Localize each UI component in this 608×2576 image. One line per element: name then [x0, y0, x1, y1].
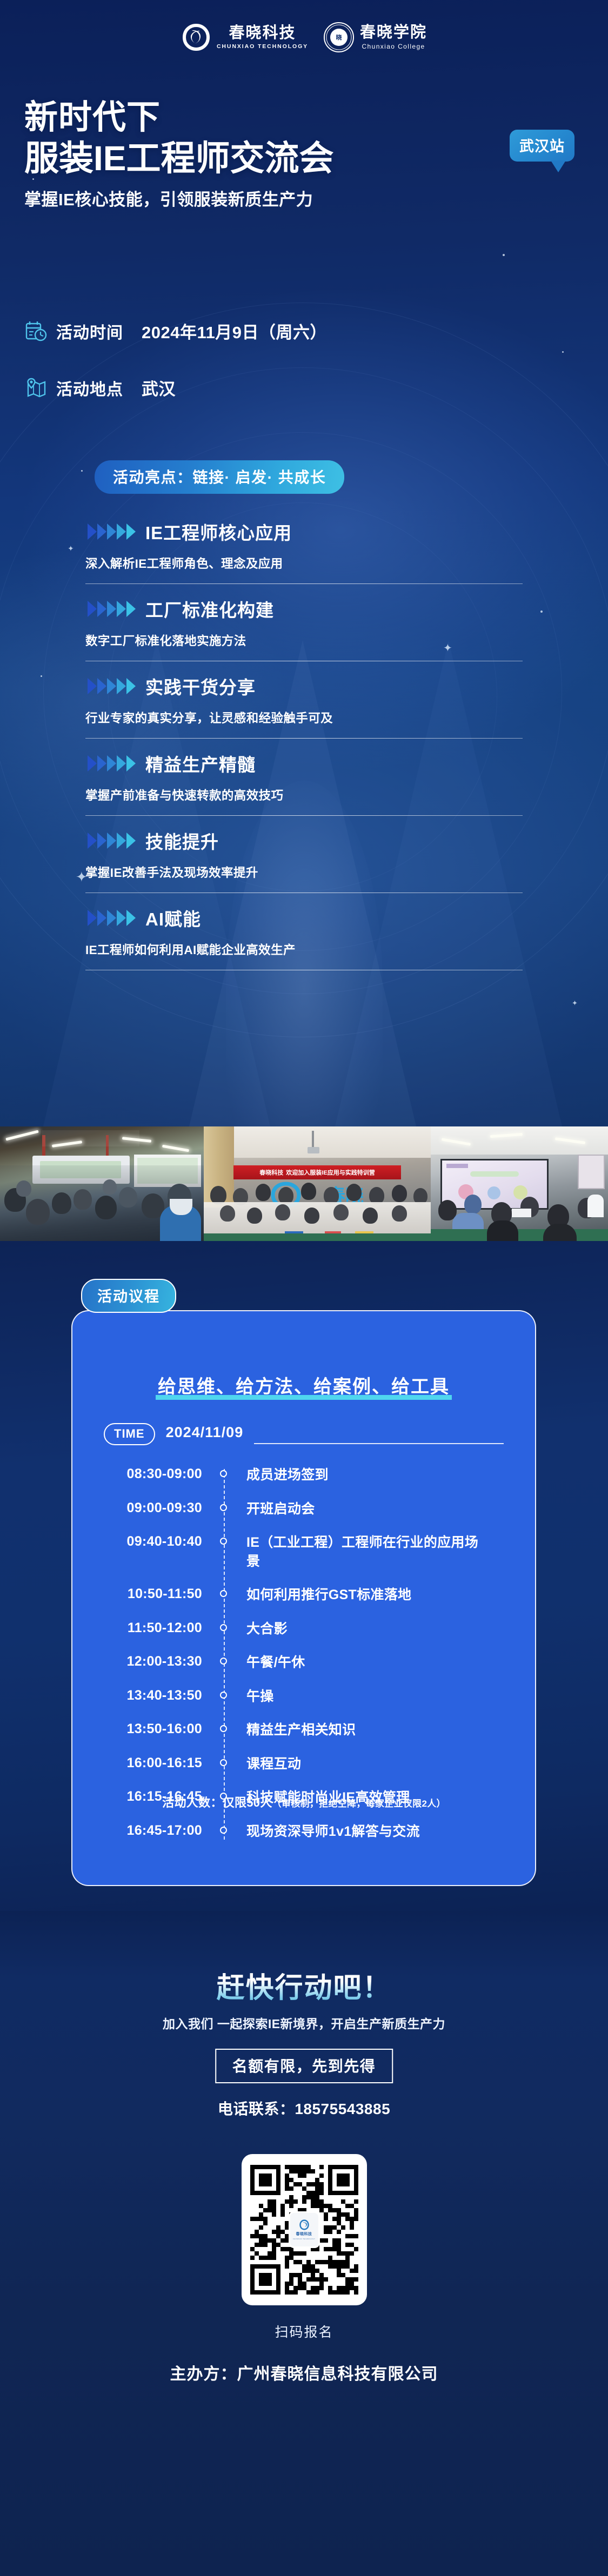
- decor-sparkle-icon: ✦: [572, 999, 578, 1007]
- schedule-row: 13:50-16:00 精益生产相关知识: [72, 1721, 535, 1740]
- highlight-title: 实践干货分享: [145, 673, 256, 699]
- agenda-headline-wrap: 给思维、给方法、给案例、给工具: [72, 1372, 535, 1398]
- chevron-right-icon: [107, 755, 116, 772]
- chunxiao-tech-mark-icon: [181, 23, 211, 51]
- highlight-separator: [85, 815, 523, 816]
- schedule-row: 16:45-17:00 现场资深导师1v1解答与交流: [72, 1822, 535, 1841]
- highlight-separator: [85, 583, 523, 584]
- attendance-limit-note: （审核制，拒绝空降，每家企业仅限2人）: [272, 1799, 446, 1809]
- highlight-head: 精益生产精髓: [43, 750, 565, 776]
- event-time-row: 活动时间 2024年11月9日（周六）: [25, 319, 327, 343]
- chevron-right-icon: [126, 833, 136, 849]
- agenda-headline: 给思维、给方法、给案例、给工具: [158, 1372, 450, 1398]
- calendar-clock-icon: [25, 320, 48, 343]
- chevron-right-icon: [117, 833, 126, 849]
- hero-title-line1: 新时代下: [24, 100, 333, 136]
- qr-logo-en: CHUNXIAO TECHNOLOGY: [293, 2238, 315, 2240]
- schedule-text: IE（工业工程）工程师在行业的应用场景: [246, 1533, 479, 1571]
- highlight-separator: [85, 738, 523, 739]
- schedule-dot-icon: [220, 1538, 227, 1545]
- highlight-desc: 掌握产前准备与快速转款的高效技巧: [85, 786, 565, 803]
- highlight-head: AI赋能: [43, 905, 565, 931]
- chevron-right-icon: [117, 601, 126, 617]
- chevron-right-icon: [107, 601, 116, 617]
- highlight-separator: [85, 970, 523, 970]
- schedule-list: 08:30-09:00 成员进场签到09:00-09:30 开班启动会09:40…: [72, 1466, 535, 1841]
- chevron-right-icon: [97, 524, 106, 540]
- highlight-desc: 掌握IE改善手法及现场效率提升: [85, 863, 565, 881]
- cta-title: 赶快行动吧！: [0, 1965, 608, 2005]
- logo-text-cn: 春晓科技: [229, 25, 296, 41]
- cta-subtitle: 加入我们 一起探索IE新境界，开启生产新质生产力: [0, 2014, 608, 2032]
- schedule-time: 13:40-13:50: [72, 1687, 202, 1703]
- schedule-dot-icon: [220, 1692, 227, 1699]
- chevron-group-icon: [88, 755, 136, 772]
- highlights-badge: 活动亮点：链接· 启发· 共成长: [95, 460, 344, 494]
- attendance-limit: 活动人数：仅限50人（审核制，拒绝空降，每家企业仅限2人）: [0, 1793, 608, 1810]
- chevron-right-icon: [97, 755, 106, 772]
- highlight-head: 工厂标准化构建: [43, 596, 565, 622]
- event-location-row: 活动地点 武汉: [25, 375, 176, 400]
- schedule-time: 13:50-16:00: [72, 1721, 202, 1737]
- brand-logos: 春晓科技 CHUNXIAO TECHNOLOGY 晓 春晓学院 Chunxiao…: [0, 22, 608, 53]
- chevron-right-icon: [117, 678, 126, 694]
- hero-section: ✦ ✦ ✦ ✦ 春晓科技 CHUNXIAO TECHNOLOGY 晓 春晓: [0, 0, 608, 1126]
- highlight-separator: [85, 661, 523, 661]
- schedule-timeline-axis: [224, 1469, 225, 1840]
- schedule-row: 11:50-12:00 大合影: [72, 1620, 535, 1639]
- chevron-right-icon: [117, 910, 126, 926]
- highlights-list: IE工程师核心应用 深入解析IE工程师角色、理念及应用 工厂标准化构建 数字工厂…: [0, 519, 608, 982]
- highlight-item: IE工程师核心应用 深入解析IE工程师角色、理念及应用: [0, 519, 608, 584]
- chevron-right-icon: [88, 524, 97, 540]
- chevron-right-icon: [88, 678, 97, 694]
- schedule-row: 10:50-11:50 如何利用推行GST标准落地: [72, 1586, 535, 1605]
- event-time-label: 活动时间: [56, 319, 123, 343]
- chevron-right-icon: [88, 833, 97, 849]
- chevron-right-icon: [107, 833, 116, 849]
- banner-brand: 春晓科技: [259, 1168, 283, 1177]
- schedule-time: 09:40-10:40: [72, 1533, 202, 1549]
- highlight-desc: IE工程师如何利用AI赋能企业高效生产: [85, 941, 565, 958]
- svg-text:晓: 晓: [336, 33, 342, 41]
- agenda-tab-badge: 活动议程: [81, 1279, 176, 1313]
- highlight-title: 工厂标准化构建: [145, 596, 274, 622]
- logo-text-en: Chunxiao College: [362, 43, 425, 50]
- banner-text: 欢迎加入服装IE应用与实践特训营: [286, 1168, 375, 1177]
- map-pin-icon: [25, 377, 48, 399]
- chevron-right-icon: [88, 910, 97, 926]
- schedule-text: 精益生产相关知识: [246, 1721, 356, 1740]
- chevron-right-icon: [117, 524, 126, 540]
- hero-subtitle: 掌握IE核心技能，引领服装新质生产力: [24, 186, 333, 210]
- agenda-date-rule: [254, 1443, 504, 1444]
- schedule-text: 开班启动会: [246, 1500, 315, 1519]
- decor-spark: [81, 470, 83, 472]
- logo-text-en: CHUNXIAO TECHNOLOGY: [217, 44, 308, 50]
- chevron-right-icon: [126, 524, 136, 540]
- chevron-right-icon: [88, 601, 97, 617]
- highlight-desc: 数字工厂标准化落地实施方法: [85, 632, 565, 649]
- chevron-group-icon: [88, 910, 136, 926]
- agenda-section: 给思维、给方法、给案例、给工具 TIME 2024/11/09 08:30-09…: [0, 1241, 608, 1911]
- schedule-row: 09:40-10:40 IE（工业工程）工程师在行业的应用场景: [72, 1533, 535, 1571]
- chevron-right-icon: [117, 755, 126, 772]
- schedule-dot-icon: [220, 1725, 227, 1732]
- chevron-right-icon: [88, 755, 97, 772]
- photo-group-photo: 春晓科技 欢迎加入服装IE应用与实践特训营 春晓: [204, 1126, 431, 1241]
- agenda-date-value: 2024/11/09: [166, 1424, 244, 1445]
- agenda-headline-text: 给思维、给方法、给案例、给工具: [158, 1377, 450, 1397]
- decor-spark: [562, 351, 564, 353]
- chevron-right-icon: [126, 755, 136, 772]
- chevron-right-icon: [126, 910, 136, 926]
- qr-logo-cn: 春晓科技: [296, 2231, 312, 2237]
- schedule-text: 午餐/午休: [246, 1653, 305, 1672]
- chevron-right-icon: [126, 601, 136, 617]
- cta-section: 赶快行动吧！ 加入我们 一起探索IE新境界，开启生产新质生产力 名额有限，先到先…: [0, 1911, 608, 2576]
- photo-workshop: [431, 1126, 608, 1241]
- scan-label: 扫码报名: [0, 2322, 608, 2341]
- logo-chunxiao-technology: 春晓科技 CHUNXIAO TECHNOLOGY: [181, 23, 308, 51]
- schedule-time: 12:00-13:30: [72, 1653, 202, 1669]
- highlight-item: 实践干货分享 行业专家的真实分享，让灵感和经验触手可及: [0, 673, 608, 739]
- schedule-time: 09:00-09:30: [72, 1500, 202, 1516]
- highlight-item: 精益生产精髓 掌握产前准备与快速转款的高效技巧: [0, 750, 608, 816]
- event-time-value: 2024年11月9日（周六）: [142, 319, 327, 343]
- chevron-right-icon: [107, 524, 116, 540]
- highlight-item: 工厂标准化构建 数字工厂标准化落地实施方法: [0, 596, 608, 661]
- chevron-group-icon: [88, 524, 136, 540]
- schedule-row: 13:40-13:50 午操: [72, 1687, 535, 1706]
- highlight-desc: 深入解析IE工程师角色、理念及应用: [85, 554, 565, 572]
- schedule-dot-icon: [220, 1590, 227, 1597]
- schedule-dot-icon: [220, 1504, 227, 1511]
- attendance-limit-main: 活动人数：仅限50人: [162, 1796, 272, 1809]
- photo-gallery: 春晓科技 欢迎加入服装IE应用与实践特训营 春晓: [0, 1126, 608, 1241]
- chevron-right-icon: [97, 833, 106, 849]
- event-location-value: 武汉: [142, 375, 176, 400]
- schedule-text: 课程互动: [246, 1755, 301, 1774]
- schedule-time: 16:00-16:15: [72, 1755, 202, 1771]
- highlight-title: 技能提升: [145, 828, 219, 854]
- logo-text-cn: 春晓学院: [360, 25, 427, 41]
- event-location-label: 活动地点: [56, 376, 123, 400]
- schedule-text: 成员进场签到: [246, 1466, 329, 1485]
- schedule-dot-icon: [220, 1759, 227, 1766]
- chevron-right-icon: [97, 910, 106, 926]
- highlight-head: 实践干货分享: [43, 673, 565, 699]
- schedule-row: 09:00-09:30 开班启动会: [72, 1500, 535, 1519]
- chevron-right-icon: [107, 910, 116, 926]
- highlight-item: 技能提升 掌握IE改善手法及现场效率提升: [0, 828, 608, 893]
- schedule-time: 11:50-12:00: [72, 1620, 202, 1636]
- college-seal-icon: 晓: [323, 22, 355, 53]
- host-label: 主办方：广州春晓信息科技有限公司: [0, 2360, 608, 2384]
- chunxiao-tech-mark-icon: [299, 2219, 310, 2230]
- schedule-dot-icon: [220, 1624, 227, 1631]
- chevron-right-icon: [97, 678, 106, 694]
- agenda-date-row: TIME 2024/11/09: [104, 1423, 535, 1445]
- schedule-dot-icon: [220, 1658, 227, 1665]
- highlight-desc: 行业专家的真实分享，让灵感和经验触手可及: [85, 709, 565, 726]
- highlight-title: IE工程师核心应用: [145, 519, 292, 545]
- logo-chunxiao-college: 晓 春晓学院 Chunxiao College: [323, 22, 427, 53]
- schedule-time: 08:30-09:00: [72, 1466, 202, 1482]
- highlight-item: AI赋能 IE工程师如何利用AI赋能企业高效生产: [0, 905, 608, 970]
- schedule-dot-icon: [220, 1470, 227, 1477]
- qr-center-logo: 春晓科技 CHUNXIAO TECHNOLOGY: [290, 2213, 318, 2246]
- station-badge: 武汉站: [510, 130, 574, 162]
- schedule-text: 大合影: [246, 1620, 288, 1639]
- hero-title-block: 新时代下 服装IE工程师交流会 掌握IE核心技能，引领服装新质生产力: [24, 100, 333, 210]
- highlight-head: IE工程师核心应用: [43, 519, 565, 545]
- decor-spark: [503, 254, 505, 256]
- chevron-group-icon: [88, 833, 136, 849]
- chevron-group-icon: [88, 601, 136, 617]
- schedule-time: 10:50-11:50: [72, 1586, 202, 1602]
- chevron-right-icon: [126, 678, 136, 694]
- schedule-row: 16:00-16:15 课程互动: [72, 1755, 535, 1774]
- schedule-text: 午操: [246, 1687, 274, 1706]
- time-pill-label: TIME: [104, 1423, 155, 1445]
- schedule-text: 现场资深导师1v1解答与交流: [246, 1822, 420, 1841]
- schedule-dot-icon: [220, 1827, 227, 1834]
- cta-phone: 电话联系：18575543885: [0, 2097, 608, 2119]
- schedule-text: 如何利用推行GST标准落地: [246, 1586, 411, 1605]
- chevron-right-icon: [107, 678, 116, 694]
- highlight-title: AI赋能: [145, 905, 201, 931]
- hero-title-line2: 服装IE工程师交流会: [24, 139, 333, 177]
- cta-limited-box: 名额有限，先到先得: [215, 2049, 393, 2083]
- highlight-head: 技能提升: [43, 828, 565, 854]
- chevron-group-icon: [88, 678, 136, 694]
- qr-code-card[interactable]: 春晓科技 CHUNXIAO TECHNOLOGY: [242, 2154, 367, 2305]
- chevron-right-icon: [97, 601, 106, 617]
- highlight-title: 精益生产精髓: [145, 750, 256, 776]
- schedule-time: 16:45-17:00: [72, 1822, 202, 1839]
- highlight-separator: [85, 893, 523, 893]
- photo-classroom-audience: [0, 1126, 204, 1241]
- schedule-row: 12:00-13:30 午餐/午休: [72, 1653, 535, 1672]
- schedule-row: 08:30-09:00 成员进场签到: [72, 1466, 535, 1485]
